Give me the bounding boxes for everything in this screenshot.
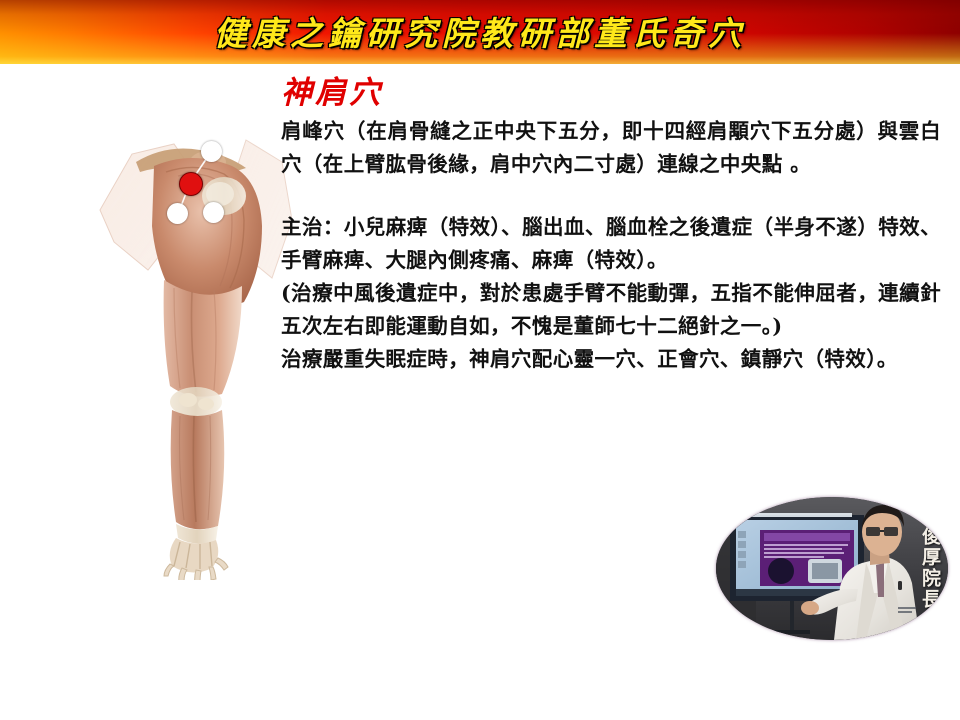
acupoint-main-red[interactable] — [179, 172, 203, 196]
acupoint-lower-right-white[interactable] — [203, 202, 224, 223]
indication-paragraph: 主治：小兒麻痺（特效）、腦出血、腦血栓之後遺症（半身不遂）特效、手臂麻痺、大腿內… — [281, 211, 941, 277]
display-base — [774, 630, 810, 634]
slide-image-dark — [768, 558, 794, 584]
acupoint-lower-left-white[interactable] — [167, 203, 188, 224]
arm-anatomy-illustration — [96, 110, 306, 580]
lapel-mic — [898, 581, 902, 590]
acupoint-upper-white[interactable] — [201, 141, 222, 162]
note-paragraph: (治療中風後遺症中，對於患處手臂不能動彈，五指不能伸屈者，連續針五次左右即能運動… — [281, 277, 941, 343]
lecturer-name-caption: 劉俊厚院長 — [917, 505, 941, 610]
content-column: 神肩穴 肩峰穴（在肩骨縫之正中央下五分，即十四經肩顒穴下五分處）與雲白穴（在上臂… — [281, 74, 941, 376]
slide-inset-photo — [812, 563, 838, 579]
lecturer-photo-scene — [716, 497, 948, 640]
combination-paragraph: 治療嚴重失眠症時，神肩穴配心靈一穴、正會穴、鎮靜穴（特效）。 — [281, 343, 941, 376]
location-paragraph: 肩峰穴（在肩骨縫之正中央下五分，即十四經肩顒穴下五分處）與雲白穴（在上臂肱骨後緣… — [281, 115, 941, 181]
display-stand — [790, 601, 794, 631]
display-lightbar — [740, 513, 852, 517]
lecturer-photo: 劉俊厚院長 — [716, 497, 948, 640]
pointing-hand — [801, 601, 819, 615]
point-name-heading: 神肩穴 — [281, 74, 941, 112]
paragraph-spacer — [281, 181, 941, 211]
slide-title-band — [764, 533, 850, 541]
header-title: 健康之鑰研究院教研部董氏奇穴 — [0, 0, 960, 64]
